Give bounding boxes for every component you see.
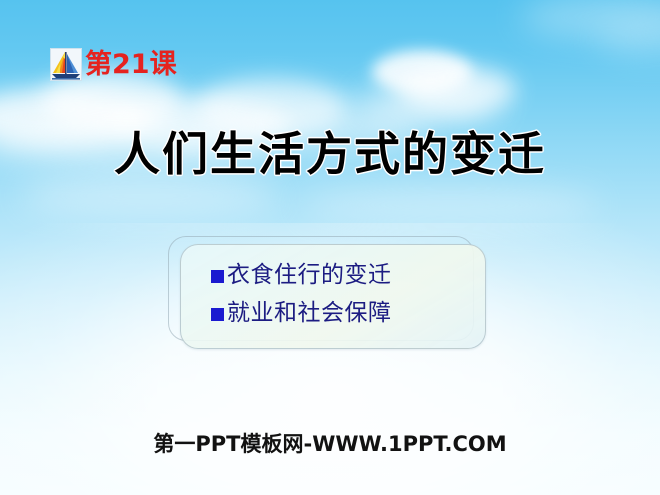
cloud-shape bbox=[360, 86, 500, 122]
cloud-shape bbox=[596, 18, 660, 58]
outline-box: 衣食住行的变迁 就业和社会保障 bbox=[168, 236, 488, 354]
cloud-shape bbox=[300, 186, 600, 224]
lesson-badge: 第21课 bbox=[50, 48, 177, 81]
cloud-shape bbox=[520, 0, 660, 40]
cloud-shape bbox=[372, 50, 472, 94]
lesson-number-label: 第21课 bbox=[85, 51, 177, 78]
outline-item-label: 就业和社会保障 bbox=[227, 301, 392, 327]
outline-item[interactable]: 衣食住行的变迁 bbox=[211, 263, 392, 289]
square-bullet-icon bbox=[211, 270, 224, 283]
slide-title: 人们生活方式的变迁 bbox=[0, 126, 660, 182]
outline-item[interactable]: 就业和社会保障 bbox=[211, 301, 392, 327]
sailboat-icon bbox=[50, 48, 82, 81]
outline-item-label: 衣食住行的变迁 bbox=[227, 263, 392, 289]
footer-watermark: 第一PPT模板网-WWW.1PPT.COM bbox=[0, 432, 660, 457]
outline-box-inner-frame: 衣食住行的变迁 就业和社会保障 bbox=[180, 244, 486, 349]
square-bullet-icon bbox=[211, 308, 224, 321]
presentation-slide: 第21课 人们生活方式的变迁 衣食住行的变迁 就业和社会保障 第一PPT模板网-… bbox=[0, 0, 660, 495]
cloud-shape bbox=[398, 66, 516, 114]
outline-list: 衣食住行的变迁 就业和社会保障 bbox=[211, 263, 392, 327]
